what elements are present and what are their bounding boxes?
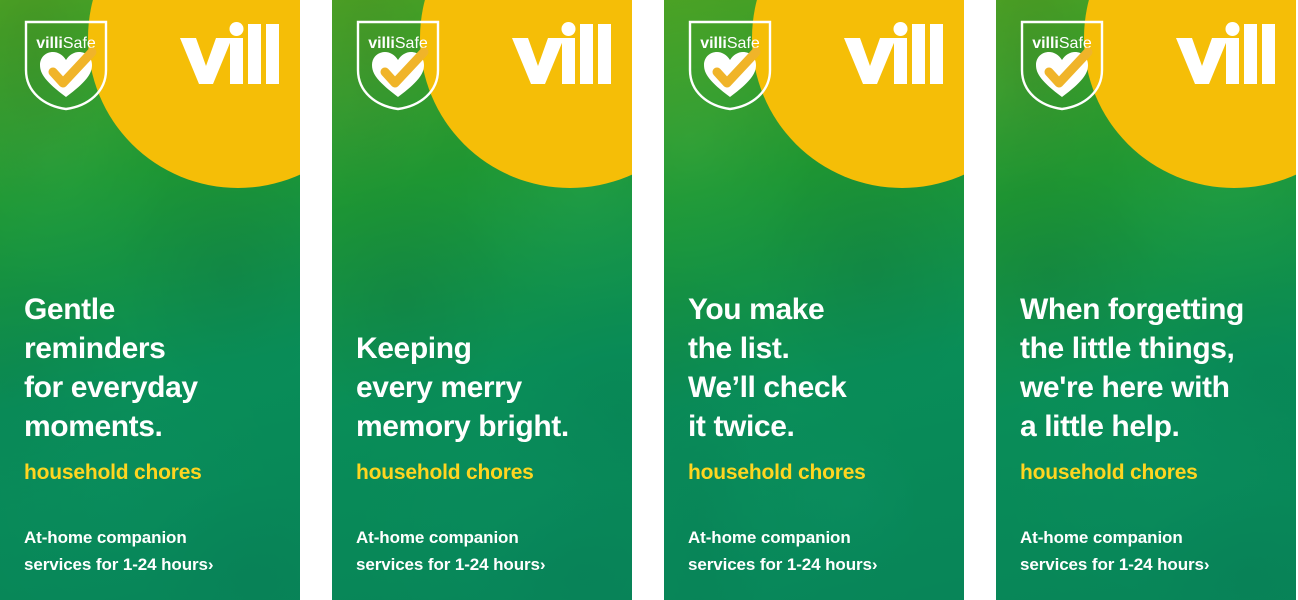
- cta-text: At-home companion services for 1-24 hour…: [688, 528, 872, 573]
- villisafe-shield-badge[interactable]: villiSafe: [686, 18, 774, 113]
- banner-copy-2: Keeping every merry memory bright. house…: [356, 329, 614, 578]
- banner-gap: [632, 0, 664, 600]
- service-eyebrow: household chores: [356, 460, 614, 485]
- headline: Gentle reminders for everyday moments.: [24, 290, 282, 446]
- villi-wordmark[interactable]: [178, 22, 282, 84]
- villisafe-shield-badge[interactable]: villiSafe: [354, 18, 442, 113]
- svg-text:villiSafe: villiSafe: [36, 35, 96, 52]
- cta-text: At-home companion services for 1-24 hour…: [1020, 528, 1204, 573]
- ad-banner-3[interactable]: villiSafe You make the list. We’ll check…: [664, 0, 964, 600]
- service-eyebrow: household chores: [24, 460, 282, 485]
- svg-text:villiSafe: villiSafe: [700, 35, 760, 52]
- chevron-right-icon: ›: [872, 555, 878, 574]
- cta-link[interactable]: At-home companion services for 1-24 hour…: [24, 525, 282, 578]
- villisafe-shield-badge[interactable]: villiSafe: [1018, 18, 1106, 113]
- chevron-right-icon: ›: [1204, 555, 1210, 574]
- villisafe-shield-badge[interactable]: villiSafe: [22, 18, 110, 113]
- cta-link[interactable]: At-home companion services for 1-24 hour…: [1020, 525, 1278, 578]
- svg-text:villiSafe: villiSafe: [368, 35, 428, 52]
- banner-copy-4: When forgetting the little things, we're…: [1020, 290, 1278, 578]
- villi-wordmark[interactable]: [510, 22, 614, 84]
- villi-wordmark[interactable]: [842, 22, 946, 84]
- ad-banner-1[interactable]: villiSafe Gentle reminders for everyday …: [0, 0, 300, 600]
- service-eyebrow: household chores: [1020, 460, 1278, 485]
- cta-text: At-home companion services for 1-24 hour…: [24, 528, 208, 573]
- banner-gap: [964, 0, 996, 600]
- service-eyebrow: household chores: [688, 460, 946, 485]
- chevron-right-icon: ›: [540, 555, 546, 574]
- ad-banner-4[interactable]: villiSafe When forgetting the little thi…: [996, 0, 1296, 600]
- villi-wordmark[interactable]: [1174, 22, 1278, 84]
- headline: When forgetting the little things, we're…: [1020, 290, 1278, 446]
- banner-gap: [300, 0, 332, 600]
- cta-link[interactable]: At-home companion services for 1-24 hour…: [356, 525, 614, 578]
- cta-text: At-home companion services for 1-24 hour…: [356, 528, 540, 573]
- chevron-right-icon: ›: [208, 555, 214, 574]
- cta-link[interactable]: At-home companion services for 1-24 hour…: [688, 525, 946, 578]
- banner-copy-3: You make the list. We’ll check it twice.…: [688, 290, 946, 578]
- headline: Keeping every merry memory bright.: [356, 329, 614, 446]
- ad-banner-strip: villiSafe Gentle reminders for everyday …: [0, 0, 1298, 600]
- headline: You make the list. We’ll check it twice.: [688, 290, 946, 446]
- svg-text:villiSafe: villiSafe: [1032, 35, 1092, 52]
- banner-copy-1: Gentle reminders for everyday moments. h…: [24, 290, 282, 578]
- ad-banner-2[interactable]: villiSafe Keeping every merry memory bri…: [332, 0, 632, 600]
